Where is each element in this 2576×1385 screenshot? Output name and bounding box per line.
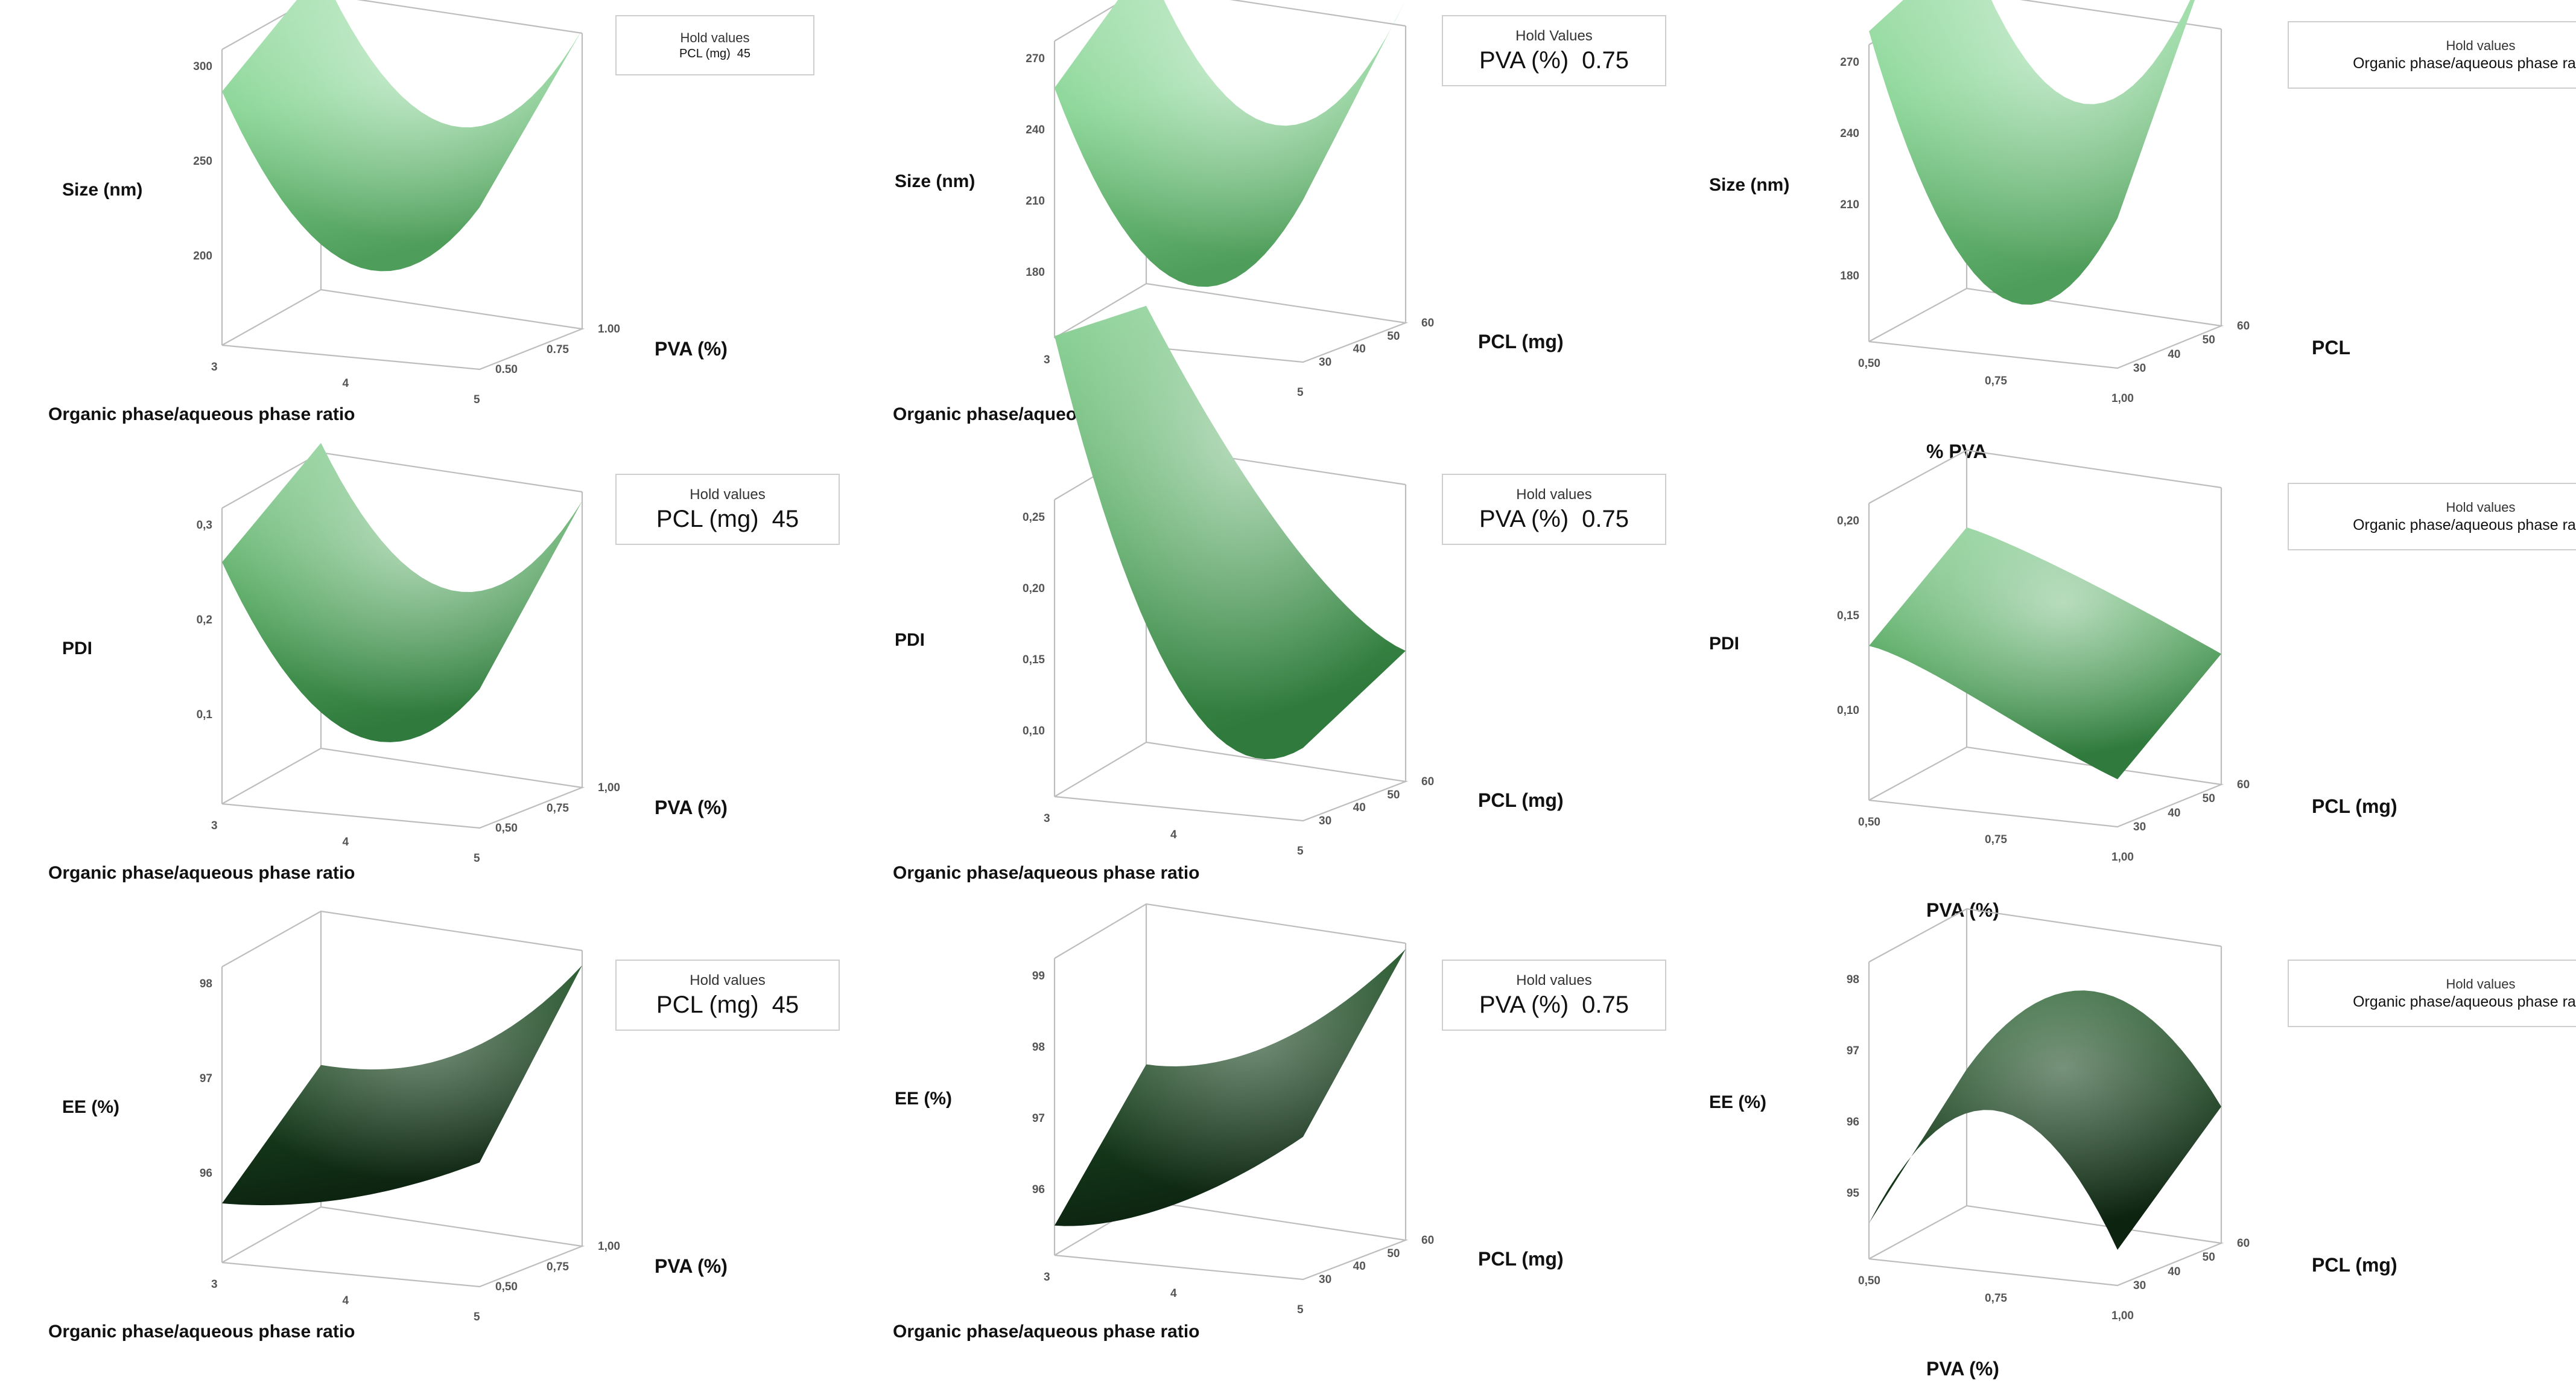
hold-values-title: Hold values	[690, 972, 765, 989]
y-tick-label: 60	[1421, 775, 1434, 789]
surface-plot-pdi-ratio-pva: PDI0,30,20,13451,000,750,50Organic phase…	[36, 459, 857, 917]
hold-factor-name: Organic phase/aqueous phase ratio	[2353, 55, 2576, 72]
surface-plot-ee-ratio-pcl: EE (%)9998979634560504030Organic phase/a…	[881, 917, 1629, 1376]
surface-plot-pdi-pva-pcl: PDI0,200,150,100,500,751,0060504030PVA (…	[1641, 459, 2570, 917]
hold-values-row: PCL (mg)45	[679, 47, 750, 61]
hold-factor-value: 45	[737, 47, 750, 61]
hold-factor-name: PCL (mg)	[656, 506, 759, 533]
hold-factor-value: 45	[772, 992, 799, 1019]
z-tick-label: 0,10	[1003, 725, 1045, 738]
x-tick-label: 0,75	[1985, 375, 2007, 388]
x-tick-label: 0,50	[1858, 1275, 1880, 1288]
response-surface	[1055, 949, 1406, 1226]
z-tick-label: 210	[1817, 199, 1859, 212]
y-axis-title: PVA (%)	[655, 1255, 728, 1278]
y-tick-label: 60	[1421, 317, 1434, 330]
y-tick-label: 30	[1319, 356, 1331, 369]
hold-factor-value: 45	[772, 506, 799, 533]
z-tick-label: 200	[170, 250, 212, 263]
z-tick-label: 96	[1003, 1183, 1045, 1197]
y-axis-title: PCL (mg)	[1478, 789, 1564, 812]
hold-values-box: Hold valuesOrganic phase/aqueous phase r…	[2288, 960, 2576, 1027]
hold-values-title: Hold values	[690, 486, 765, 503]
x-tick-label: 1,00	[2111, 1310, 2134, 1323]
y-tick-label: 40	[1353, 343, 1366, 356]
surface-plot-size-ratio-pva: Size (nm)3002502003451.000.750.50Organic…	[36, 0, 857, 459]
hold-values-title: Hold values	[2446, 976, 2516, 992]
z-tick-label: 210	[1003, 195, 1045, 208]
response-surface	[1055, 0, 1406, 287]
x-tick-label: 4	[1170, 829, 1177, 842]
hold-factor-name: PVA (%)	[1479, 47, 1569, 74]
hold-values-box: Hold valuesPVA (%)0.75	[1442, 960, 1666, 1031]
z-axis-label: Size (nm)	[895, 171, 975, 192]
x-tick-label: 4	[343, 836, 349, 849]
y-tick-label: 50	[1387, 789, 1400, 802]
y-axis-title: PVA (%)	[655, 797, 728, 819]
hold-values-box: Hold ValuesPVA (%)0.75	[1442, 15, 1666, 86]
x-tick-label: 5	[474, 852, 480, 865]
y-axis-title: PVA (%)	[655, 338, 728, 360]
y-tick-label: 40	[2168, 807, 2180, 820]
z-tick-label: 0,15	[1817, 610, 1859, 623]
z-tick-label: 270	[1003, 53, 1045, 66]
z-axis-label: EE (%)	[62, 1097, 119, 1118]
z-tick-label: 96	[170, 1167, 212, 1180]
x-tick-label: 3	[1044, 1271, 1050, 1284]
hold-factor-name: PCL (mg)	[679, 47, 731, 61]
y-tick-label: 30	[2133, 362, 2146, 375]
surface-plot-size-pva-pcl: Size (nm)2702402101800,500,751,006050403…	[1641, 0, 2570, 459]
surface-plot-pdi-ratio-pcl: PDI0,250,200,150,1034560504030Organic ph…	[881, 459, 1629, 917]
x-tick-label: 5	[474, 1311, 480, 1324]
hold-factor-name: Organic phase/aqueous phase ratio	[2353, 993, 2576, 1011]
hold-values-row: Organic phase/aqueous phase ratio4	[2353, 993, 2576, 1011]
y-tick-label: 30	[1319, 1273, 1331, 1287]
z-tick-label: 97	[1817, 1045, 1859, 1058]
hold-factor-name: Organic phase/aqueous phase ratio	[2353, 517, 2576, 534]
y-tick-label: 40	[2168, 1266, 2180, 1279]
x-axis-title: Organic phase/aqueous phase ratio	[893, 1322, 1199, 1342]
z-tick-label: 98	[170, 978, 212, 991]
z-tick-label: 0,3	[170, 519, 212, 532]
y-tick-label: 60	[2237, 1237, 2250, 1250]
z-tick-label: 0,20	[1817, 515, 1859, 528]
hold-values-box: Hold valuesPCL (mg)45	[615, 960, 840, 1031]
hold-values-box: Hold valuesOrganic phase/aqueous phase r…	[2288, 483, 2576, 550]
y-tick-label: 60	[2237, 320, 2250, 333]
z-tick-label: 95	[1817, 1187, 1859, 1200]
y-tick-label: 50	[1387, 330, 1400, 343]
hold-values-title: Hold Values	[1515, 28, 1593, 45]
hold-factor-name: PVA (%)	[1479, 992, 1569, 1019]
y-tick-label: 30	[2133, 821, 2146, 834]
hold-factor-name: PVA (%)	[1479, 506, 1569, 533]
x-tick-label: 4	[343, 1294, 349, 1308]
z-tick-label: 0,15	[1003, 654, 1045, 667]
z-tick-label: 180	[1817, 270, 1859, 283]
x-tick-label: 5	[1297, 386, 1304, 400]
x-tick-label: 1,00	[2111, 392, 2134, 406]
z-axis-label: EE (%)	[1709, 1092, 1766, 1113]
hold-values-box: Hold valuesPCL (mg)45	[615, 474, 840, 545]
z-axis-label: Size (nm)	[1709, 175, 1789, 196]
z-tick-label: 98	[1817, 973, 1859, 987]
hold-values-row: PVA (%)0.75	[1479, 992, 1629, 1019]
hold-values-row: PCL (mg)45	[656, 506, 799, 533]
x-axis-title: PVA (%)	[1926, 1358, 1999, 1380]
hold-values-row: Organic phase/aqueous phase ratio4	[2353, 517, 2576, 534]
x-tick-label: 5	[1297, 845, 1304, 858]
z-tick-label: 240	[1003, 124, 1045, 137]
y-tick-label: 1.00	[598, 323, 620, 336]
z-tick-label: 250	[170, 155, 212, 168]
y-axis-title: PCL (mg)	[1478, 1248, 1564, 1270]
surface-plot-ee-ratio-pva: EE (%)9897963451,000,750,50Organic phase…	[36, 917, 857, 1376]
x-axis-title: Organic phase/aqueous phase ratio	[48, 863, 355, 884]
z-tick-label: 270	[1817, 56, 1859, 69]
y-axis-title: PCL	[2312, 337, 2350, 359]
hold-values-row: Organic phase/aqueous phase ratio4	[2353, 55, 2576, 72]
z-tick-label: 180	[1003, 266, 1045, 279]
x-tick-label: 3	[1044, 812, 1050, 826]
z-axis-label: Size (nm)	[62, 180, 142, 200]
z-axis-label: PDI	[62, 638, 92, 659]
surface-plot-ee-pva-pcl: EE (%)989796950,500,751,0060504030PVA (%…	[1641, 917, 2570, 1376]
x-tick-label: 0,75	[1985, 833, 2007, 847]
y-tick-label: 50	[2203, 1251, 2215, 1264]
response-surface	[1869, 990, 2221, 1250]
y-tick-label: 0,75	[547, 1261, 569, 1274]
y-tick-label: 0,50	[495, 822, 518, 835]
z-tick-label: 0,2	[170, 614, 212, 627]
hold-factor-name: PCL (mg)	[656, 992, 759, 1019]
response-surface	[1869, 527, 2221, 779]
x-axis-title: Organic phase/aqueous phase ratio	[48, 1322, 355, 1342]
y-tick-label: 40	[1353, 1260, 1366, 1273]
y-tick-label: 0.50	[495, 363, 518, 377]
x-tick-label: 5	[1297, 1304, 1304, 1317]
hold-factor-value: 0.75	[1582, 47, 1629, 74]
x-axis-title: Organic phase/aqueous phase ratio	[893, 863, 1199, 884]
response-surface	[1869, 0, 2221, 305]
hold-values-box: Hold valuesOrganic phase/aqueous phase r…	[2288, 21, 2576, 89]
x-tick-label: 3	[211, 820, 218, 833]
y-tick-label: 50	[2203, 334, 2215, 347]
z-tick-label: 96	[1817, 1116, 1859, 1129]
y-tick-label: 40	[2168, 348, 2180, 361]
z-tick-label: 99	[1003, 970, 1045, 983]
x-tick-label: 3	[211, 361, 218, 374]
hold-values-title: Hold values	[680, 30, 750, 46]
z-tick-label: 240	[1817, 127, 1859, 141]
x-tick-label: 3	[1044, 354, 1050, 367]
hold-values-box: Hold valuesPCL (mg)45	[615, 15, 814, 75]
y-tick-label: 60	[1421, 1234, 1434, 1247]
y-tick-label: 30	[2133, 1279, 2146, 1293]
y-axis-title: PCL (mg)	[1478, 331, 1564, 353]
y-tick-label: 60	[2237, 778, 2250, 792]
response-surface-figure: Size (nm)3002502003451.000.750.50Organic…	[0, 0, 2576, 1385]
x-tick-label: 4	[343, 377, 349, 390]
x-tick-label: 5	[474, 393, 480, 407]
y-tick-label: 0,50	[495, 1281, 518, 1294]
x-tick-label: 0,50	[1858, 357, 1880, 371]
z-tick-label: 97	[170, 1072, 212, 1086]
x-tick-label: 0,75	[1985, 1292, 2007, 1305]
y-tick-label: 50	[2203, 792, 2215, 806]
y-tick-label: 50	[1387, 1247, 1400, 1261]
response-surface	[222, 443, 582, 742]
hold-factor-value: 0.75	[1582, 992, 1629, 1019]
y-tick-label: 1,00	[598, 1240, 620, 1253]
z-tick-label: 97	[1003, 1112, 1045, 1126]
z-tick-label: 0,20	[1003, 582, 1045, 596]
x-tick-label: 1,00	[2111, 851, 2134, 864]
z-tick-label: 0,10	[1817, 704, 1859, 718]
y-axis-title: PCL (mg)	[2312, 795, 2397, 818]
hold-values-title: Hold values	[2446, 500, 2516, 515]
y-tick-label: 30	[1319, 815, 1331, 828]
y-tick-label: 1,00	[598, 782, 620, 795]
hold-values-row: PVA (%)0.75	[1479, 47, 1629, 74]
z-axis-label: PDI	[1709, 634, 1739, 654]
z-tick-label: 300	[170, 60, 212, 74]
hold-values-box: Hold valuesPVA (%)0.75	[1442, 474, 1666, 545]
z-tick-label: 98	[1003, 1041, 1045, 1054]
response-surface	[222, 966, 582, 1206]
y-tick-label: 0.75	[547, 343, 569, 357]
z-axis-label: PDI	[895, 630, 925, 651]
x-axis-title: Organic phase/aqueous phase ratio	[48, 404, 355, 425]
response-surface	[222, 0, 582, 271]
z-tick-label: 0,1	[170, 708, 212, 722]
x-tick-label: 4	[1170, 1287, 1177, 1301]
x-tick-label: 0,50	[1858, 816, 1880, 829]
hold-values-title: Hold values	[2446, 38, 2516, 54]
x-tick-label: 3	[211, 1278, 218, 1291]
hold-values-title: Hold values	[1516, 486, 1591, 503]
y-tick-label: 40	[1353, 801, 1366, 815]
hold-values-title: Hold values	[1516, 972, 1591, 989]
hold-factor-value: 0.75	[1582, 506, 1629, 533]
y-tick-label: 0,75	[547, 802, 569, 815]
z-tick-label: 0,25	[1003, 511, 1045, 524]
z-axis-label: EE (%)	[895, 1089, 952, 1109]
surface-plot-size-ratio-pcl: Size (nm)27024021018034560504030Organic …	[881, 0, 1629, 459]
hold-values-row: PVA (%)0.75	[1479, 506, 1629, 533]
y-axis-title: PCL (mg)	[2312, 1254, 2397, 1276]
hold-values-row: PCL (mg)45	[656, 992, 799, 1019]
